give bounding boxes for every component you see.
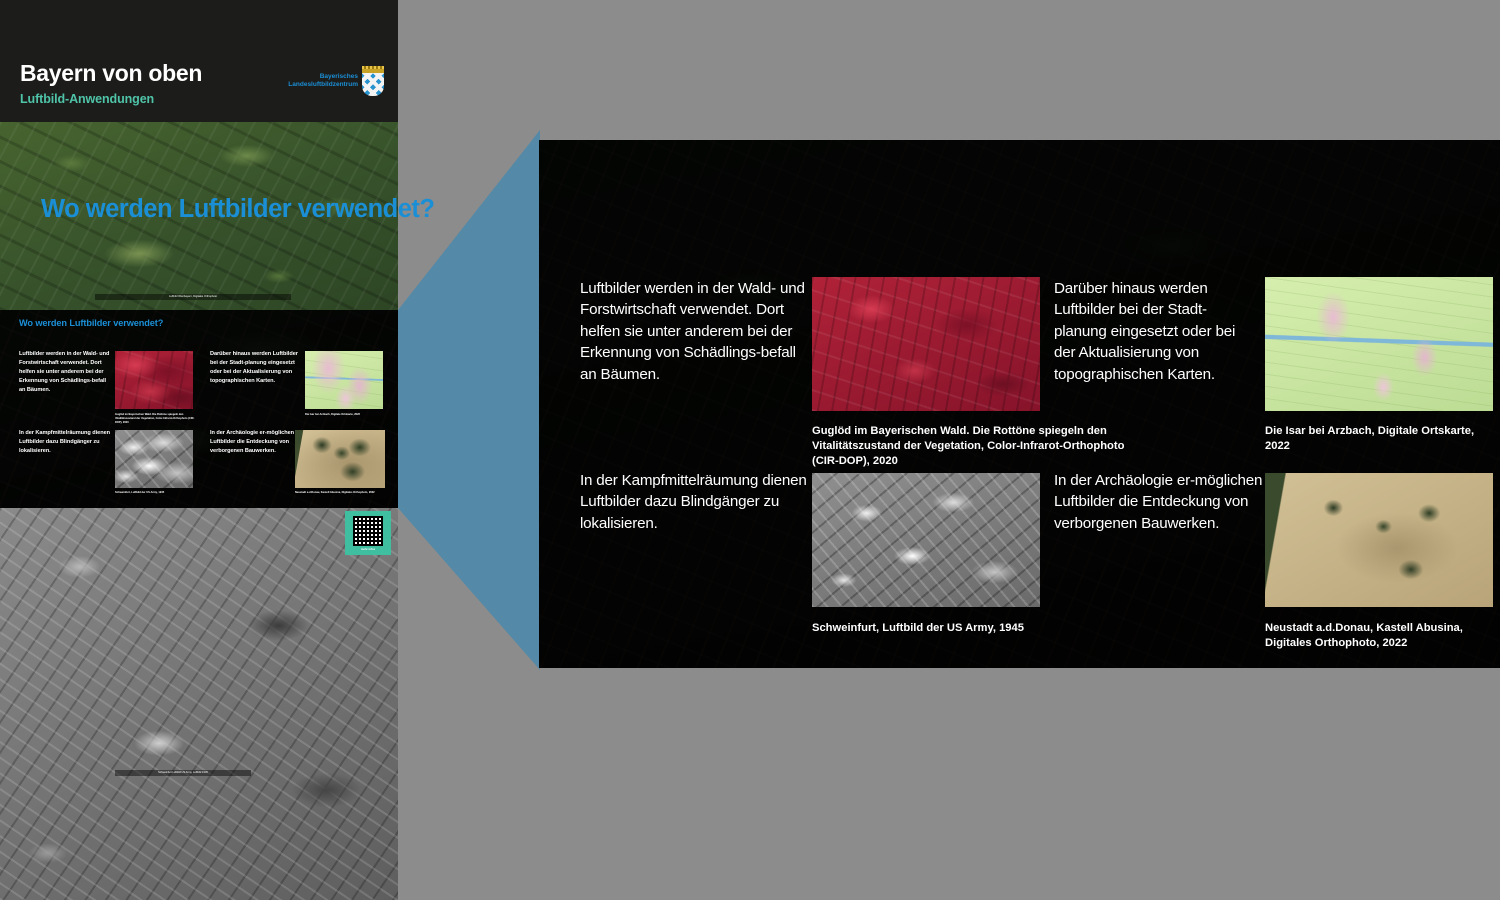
panel-caption-kastell-abusina: Neustadt a.d.Donau, Kastell Abusina, Dig… <box>1265 621 1500 651</box>
panel-caption-schweinfurt: Schweinfurt, Luftbild der US Army, 1945 <box>812 621 1112 636</box>
poster-mini-text-4: In der Archäologie er-möglichen Luftbild… <box>210 429 302 456</box>
poster-panel-title: Wo werden Luftbilder verwendet? <box>19 318 163 328</box>
panel-photo-kastell-abusina <box>1265 473 1493 607</box>
panel-photo-cir-orthophoto <box>812 277 1040 411</box>
poster-mini-image-1 <box>115 351 193 409</box>
poster-mini-caption-3: Schweinfurt, Luftbild der US Army, 1945 <box>115 491 201 495</box>
logo-line-1: Bayerisches <box>288 73 358 81</box>
poster-bottom-photo-caption: Schweinfurt Luftbild US Army, Luftbild 1… <box>115 770 251 776</box>
poster-mini-text-3: In der Kampfmittelräumung dienen Luftbil… <box>19 429 111 456</box>
qr-code-label: mehr infos <box>361 547 375 551</box>
panel-text-urban-planning: Darüber hinaus werden Luftbilder bei der… <box>1054 278 1259 385</box>
poster-mini-caption-4: Neustadt a.d.Donau, Kastell Abusina, Dig… <box>295 491 389 495</box>
qr-code-icon[interactable] <box>353 516 383 546</box>
panel-photo-schweinfurt <box>812 473 1040 607</box>
lozenge-field-icon <box>362 73 384 96</box>
poster-bottom-aerial-photo: Schweinfurt Luftbild US Army, Luftbild 1… <box>0 508 398 900</box>
panel-photo-digitale-ortskarte <box>1265 277 1493 411</box>
bavarian-coat-of-arms-icon <box>362 66 384 96</box>
poster-top-photo-caption: Luftbild Oberbayern, Digitales Orthophot… <box>95 294 291 300</box>
panel-caption-cir-orthophoto: Guglöd im Bayerischen Wald. Die Rottöne … <box>812 424 1132 469</box>
panel-caption-digitale-ortskarte: Die Isar bei Arzbach, Digitale Ortskarte… <box>1265 424 1495 454</box>
poster-mini-image-2 <box>305 351 383 409</box>
institution-logo: Bayerisches Landesluftbildzentrum <box>288 66 384 96</box>
panel-title: Wo werden Luftbilder verwendet? <box>41 195 434 224</box>
crown-icon <box>362 66 384 73</box>
logo-line-2: Landesluftbildzentrum <box>288 81 358 89</box>
poster-mini-caption-1: Guglöd im Bayerischen Wald. Die Rottöne … <box>115 413 201 425</box>
panel-text-forestry: Luftbilder werden in der Wald- und Forst… <box>580 278 805 385</box>
poster-mini-text-1: Luftbilder werden in der Wald- und Forst… <box>19 350 111 395</box>
poster-subtitle: Luftbild-Anwendungen <box>20 92 154 106</box>
panel-text-ordnance-clearance: In der Kampfmittelräumung dienen Luftbil… <box>580 470 815 534</box>
poster-mini-image-3 <box>115 430 193 488</box>
qr-code-block[interactable]: mehr infos <box>345 511 391 555</box>
poster-title: Bayern von oben <box>20 60 202 87</box>
poster-mini-image-4 <box>295 430 385 488</box>
institution-logo-text: Bayerisches Landesluftbildzentrum <box>288 73 358 89</box>
poster-preview: Luftbild Oberbayern, Digitales Orthophot… <box>0 0 398 900</box>
panel-text-archaeology: In der Archäologie er-möglichen Luftbild… <box>1054 470 1264 534</box>
poster-mini-text-2: Darüber hinaus werden Luftbilder bei der… <box>210 350 302 386</box>
poster-mini-caption-2: Die Isar bei Arzbach, Digitale Ortskarte… <box>305 413 391 417</box>
